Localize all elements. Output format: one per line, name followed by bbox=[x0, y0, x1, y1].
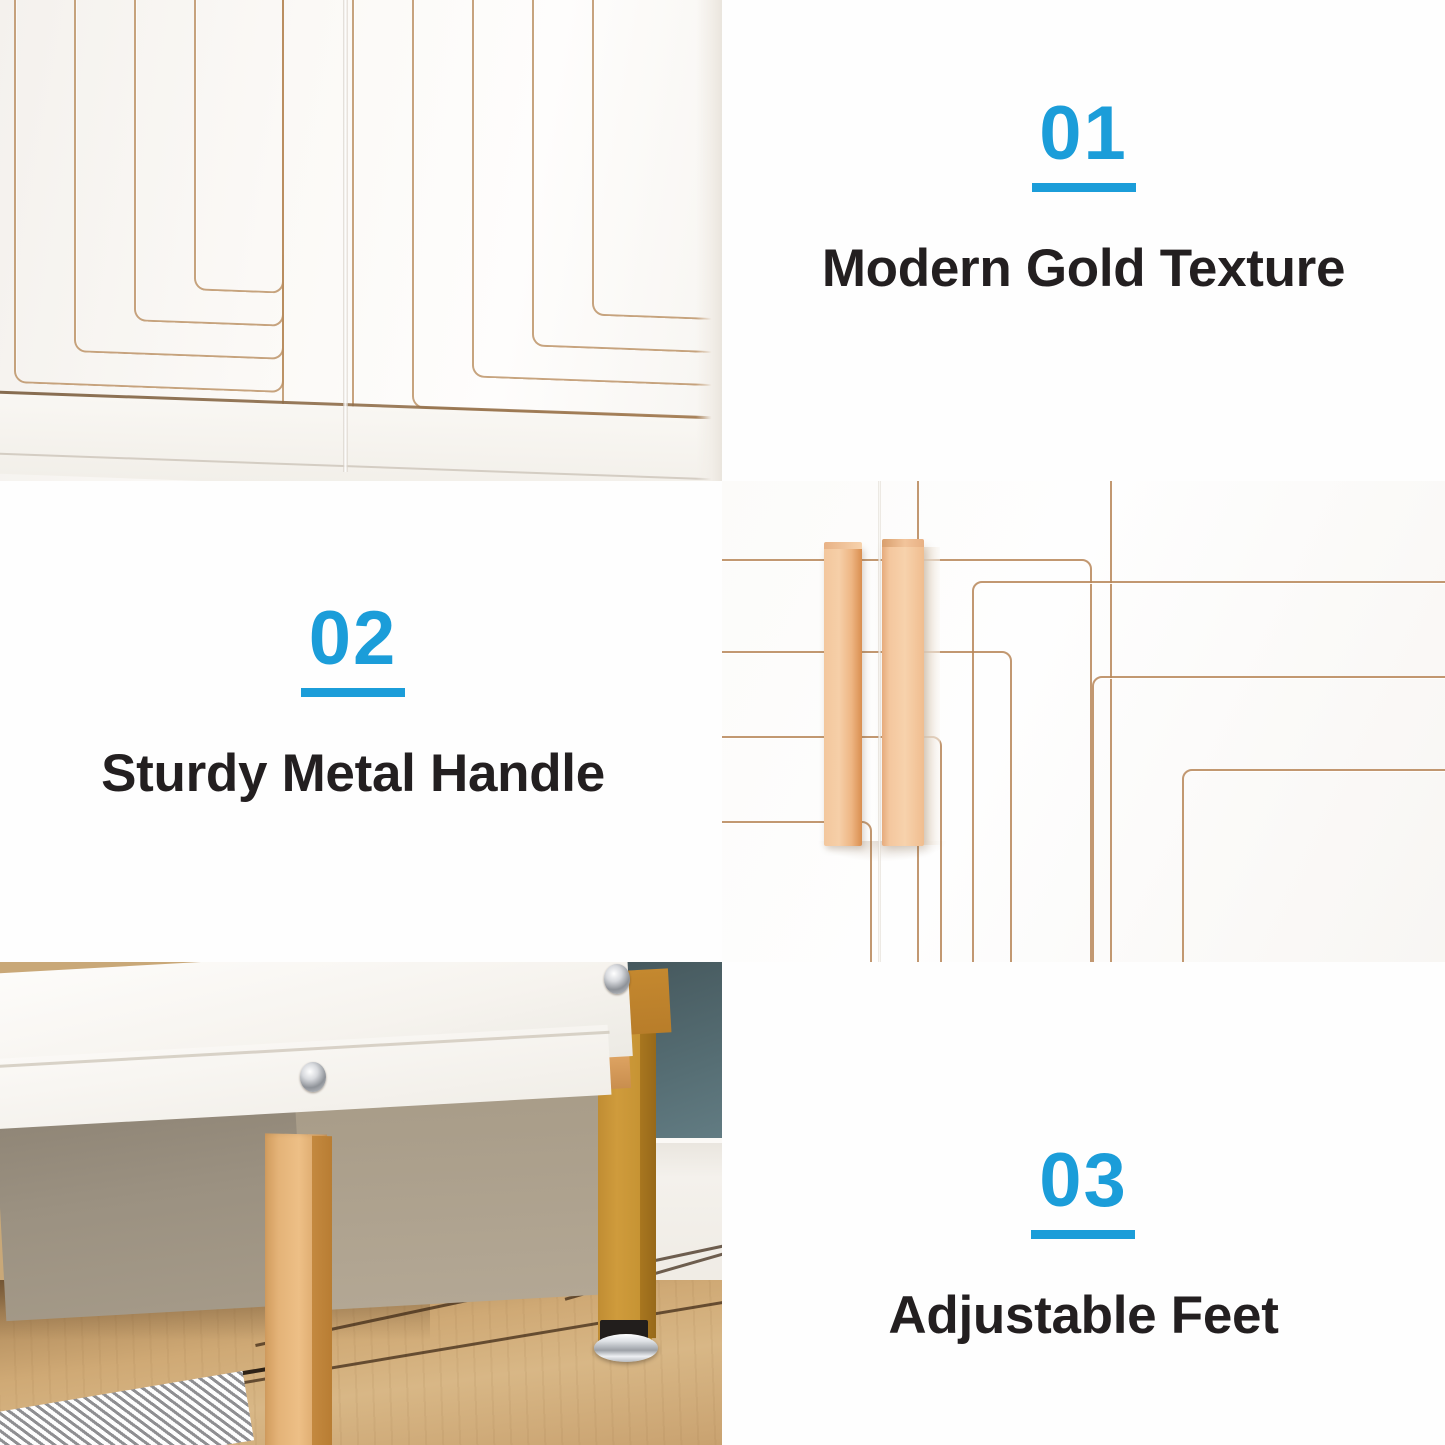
feature-underline-03 bbox=[1031, 1230, 1135, 1239]
feature-underline-02 bbox=[301, 688, 405, 697]
feature-number-01: 01 bbox=[1039, 98, 1128, 179]
handle-bar-left-top-bevel bbox=[824, 542, 862, 549]
adjustable-foot-back bbox=[594, 1334, 658, 1362]
feature-title-03: Adjustable Feet bbox=[888, 1285, 1278, 1346]
feature-number-02: 02 bbox=[309, 603, 398, 684]
caption-01: 01 Modern Gold Texture bbox=[722, 0, 1445, 481]
door-center-seam bbox=[343, 0, 348, 472]
photo-modern-gold-texture bbox=[0, 0, 722, 481]
cabinet-right-edge bbox=[696, 0, 722, 481]
feature-number-03: 03 bbox=[1039, 1145, 1128, 1226]
handle-bar-left bbox=[824, 546, 862, 846]
handle-panel-step-right-4 bbox=[1182, 769, 1445, 962]
handle-bar-right bbox=[882, 544, 924, 846]
door-face-right-of-handle bbox=[922, 547, 940, 845]
feature-infographic: 01 Modern Gold Texture 02 Sturdy Metal H… bbox=[0, 0, 1445, 1445]
door-center-seam bbox=[878, 481, 881, 962]
handle-bar-right-top-bevel bbox=[882, 539, 924, 547]
cabinet-doors-illustration bbox=[0, 0, 722, 481]
caption-03: 03 Adjustable Feet bbox=[722, 962, 1445, 1445]
door-groove-left-5 bbox=[194, 0, 284, 294]
feature-title-01: Modern Gold Texture bbox=[822, 238, 1345, 299]
screw-icon bbox=[300, 1062, 326, 1092]
cabinet-leg-front-side bbox=[312, 1136, 332, 1445]
feature-title-02: Sturdy Metal Handle bbox=[101, 743, 605, 804]
caption-02: 02 Sturdy Metal Handle bbox=[0, 481, 722, 962]
feature-underline-01 bbox=[1032, 183, 1136, 192]
photo-sturdy-metal-handle bbox=[722, 481, 1445, 962]
screw-icon bbox=[604, 964, 630, 994]
photo-adjustable-feet bbox=[0, 962, 722, 1445]
